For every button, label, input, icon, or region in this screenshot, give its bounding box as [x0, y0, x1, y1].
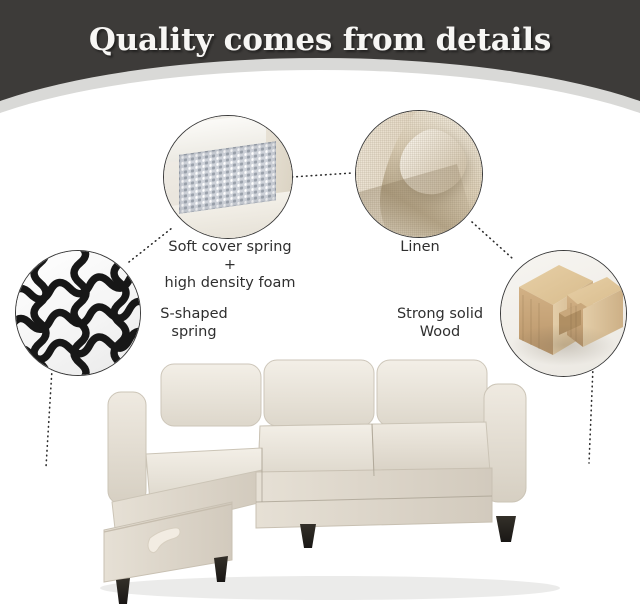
sofa-back-cushions: [161, 360, 487, 426]
feature-label-linen: Linen: [340, 238, 500, 256]
sofa-leg-right: [496, 516, 516, 542]
sofa-leg-center: [300, 524, 316, 548]
feature-label-s-shaped-spring: S-shaped spring: [126, 305, 262, 341]
feature-circle-soft-cover-spring-foam[interactable]: [163, 115, 293, 239]
product-image-sectional-sofa[interactable]: [0, 352, 640, 607]
infographic-canvas: Quality comes from details Soft cover sp…: [0, 0, 640, 607]
link-foam-to-linen: [292, 173, 352, 177]
sofa-base-right: [256, 468, 492, 528]
feature-label-soft-cover-spring-foam: Soft cover spring + high density foam: [140, 238, 320, 292]
page-title: Quality comes from details: [0, 22, 640, 58]
feature-circle-linen[interactable]: [355, 110, 483, 238]
pocket-spring-foam-image: [164, 116, 292, 238]
feature-label-strong-solid-wood: Strong solid Wood: [370, 305, 510, 341]
sofa-floor-shadow: [100, 576, 560, 600]
linen-fabric-image: [356, 111, 482, 237]
sofa-left-arm: [108, 392, 146, 504]
sofa-leg-front-left: [116, 578, 130, 604]
